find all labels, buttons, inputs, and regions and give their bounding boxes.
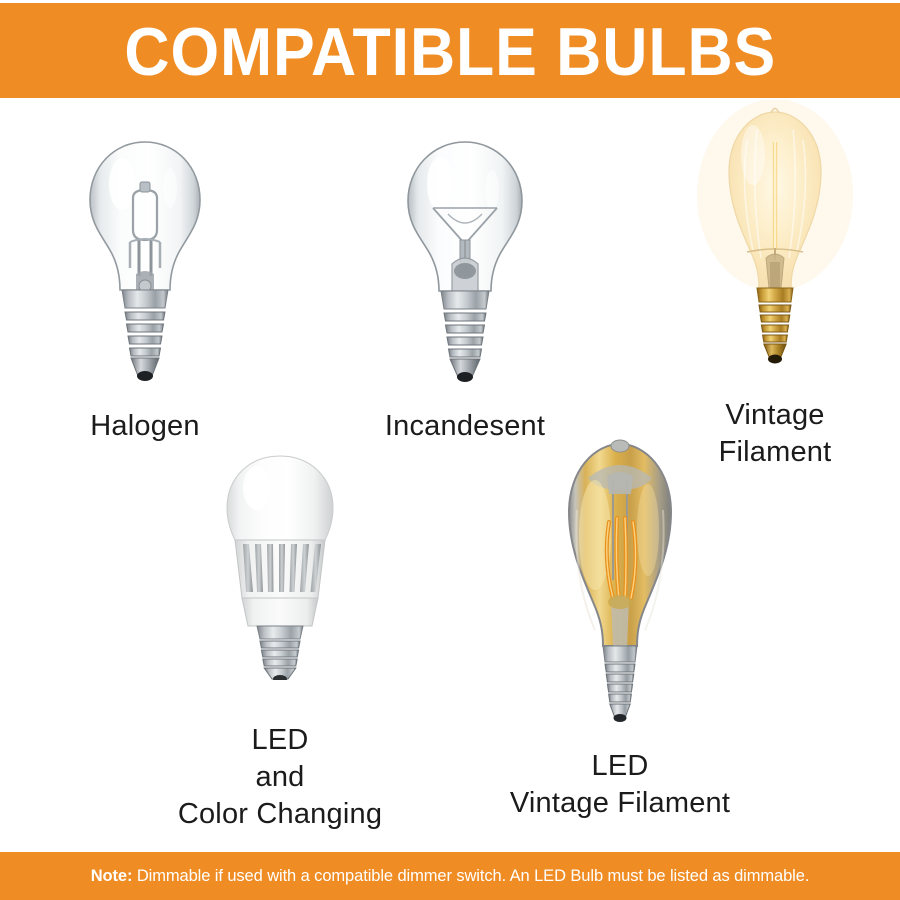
vintage-filament-bulb-icon [695,100,855,385]
footer-note-text: Dimmable if used with a compatible dimme… [132,867,809,885]
bulb-grid: Halogen [0,98,900,852]
page-title: COMPATIBLE BULBS [124,18,776,86]
bulb-card-incandescent: Incandesent [355,136,575,445]
bulb-card-vintage-filament: Vintage Filament [665,100,885,471]
footer-note-bar: Note: Dimmable if used with a compatible… [0,852,900,900]
footer-note-label: Note: [91,867,133,885]
led-bulb-icon [205,450,355,680]
footer-note: Note: Dimmable if used with a compatible… [91,867,810,886]
bulb-label-led: LED and Color Changing [178,722,382,833]
incandescent-bulb-icon [390,136,540,396]
bulb-card-led-vintage-filament: LED Vintage Filament [495,430,745,822]
header-banner: COMPATIBLE BULBS [0,3,900,98]
bulb-label-halogen: Halogen [90,408,199,445]
bulb-card-led: LED and Color Changing [165,450,395,833]
led-vintage-filament-bulb-icon [533,430,708,730]
bulb-card-halogen: Halogen [35,136,255,445]
halogen-bulb-icon [70,136,220,396]
bulb-label-led-vintage-filament: LED Vintage Filament [510,748,730,822]
